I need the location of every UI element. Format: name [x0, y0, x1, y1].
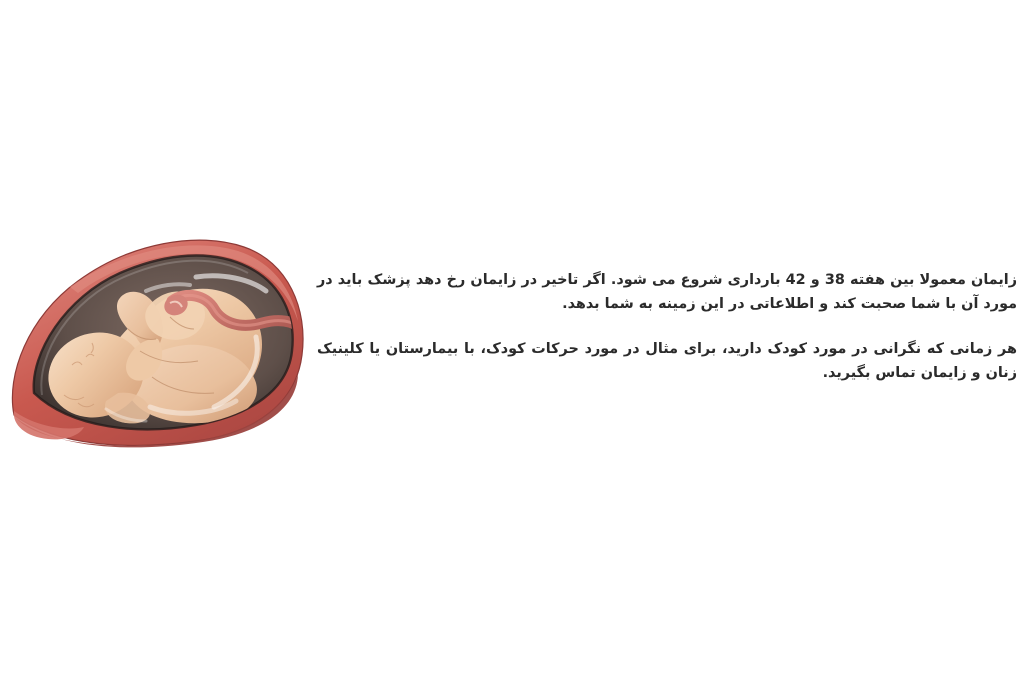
article-paragraph-2: هر زمانی که نگرانی در مورد کودک دارید، ب… [317, 337, 1017, 385]
fetus-in-uterus-illustration [0, 225, 312, 455]
fetus-in-uterus-svg [0, 225, 312, 455]
page-root: زایمان معمولا بین هفته 38 و 42 بارداری ش… [0, 0, 1024, 683]
article-paragraph-1: زایمان معمولا بین هفته 38 و 42 بارداری ش… [317, 268, 1017, 316]
article-text-block: زایمان معمولا بین هفته 38 و 42 بارداری ش… [317, 268, 1017, 385]
